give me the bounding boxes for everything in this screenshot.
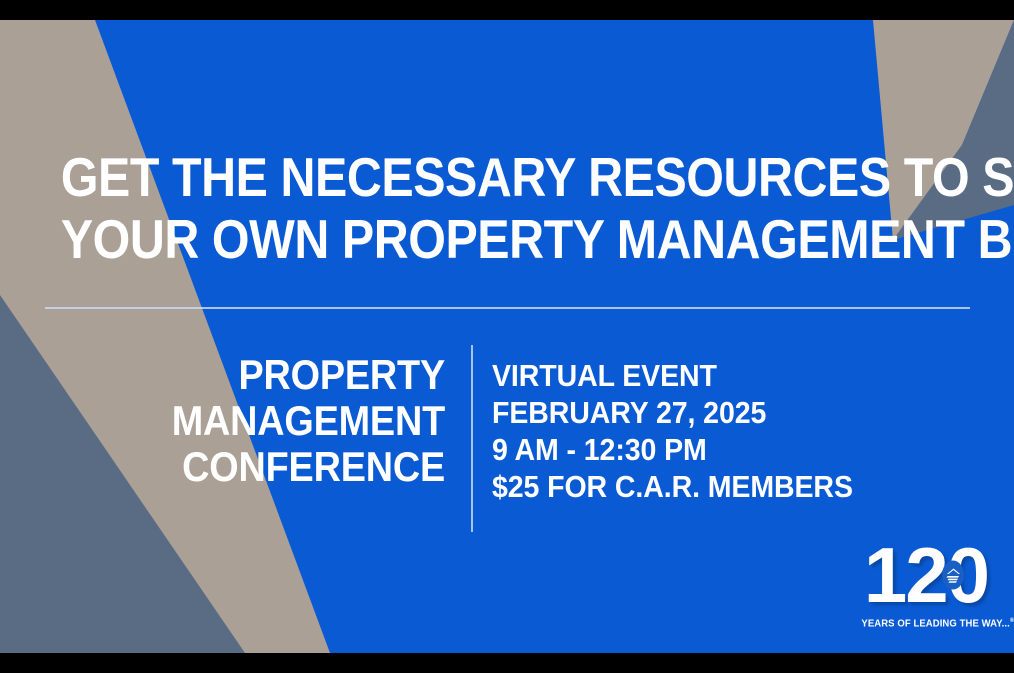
event-time: 9 AM - 12:30 PM xyxy=(492,431,853,468)
headline-line-1: GET THE NECESSARY RESOURCES TO SUPPORT xyxy=(61,146,953,208)
car-association-logo-icon xyxy=(941,560,965,590)
anniversary-logo: 120 YEARS OF LEADING THE WAY...® xyxy=(858,536,994,640)
anniversary-tagline: YEARS OF LEADING THE WAY...® xyxy=(861,615,990,630)
vertical-divider xyxy=(471,345,473,532)
event-date: FEBRUARY 27, 2025 xyxy=(492,394,853,431)
promotional-banner: GET THE NECESSARY RESOURCES TO SUPPORT Y… xyxy=(0,0,1014,673)
registered-mark: ® xyxy=(1010,618,1014,624)
anniversary-tagline-text: YEARS OF LEADING THE WAY... xyxy=(861,618,1009,629)
conference-title-line-2: MANAGEMENT xyxy=(153,398,446,444)
event-details: VIRTUAL EVENT FEBRUARY 27, 2025 9 AM - 1… xyxy=(492,357,853,505)
conference-title-line-1: PROPERTY xyxy=(153,352,446,398)
headline: GET THE NECESSARY RESOURCES TO SUPPORT Y… xyxy=(61,146,953,270)
headline-line-2: YOUR OWN PROPERTY MANAGEMENT BUSINESS xyxy=(61,208,953,270)
event-format: VIRTUAL EVENT xyxy=(492,357,853,394)
event-price: $25 FOR C.A.R. MEMBERS xyxy=(492,468,853,505)
conference-title-line-3: CONFERENCE xyxy=(153,444,446,490)
anniversary-number: 120 xyxy=(858,536,994,614)
conference-title: PROPERTY MANAGEMENT CONFERENCE xyxy=(153,352,446,490)
horizontal-divider xyxy=(45,307,970,309)
